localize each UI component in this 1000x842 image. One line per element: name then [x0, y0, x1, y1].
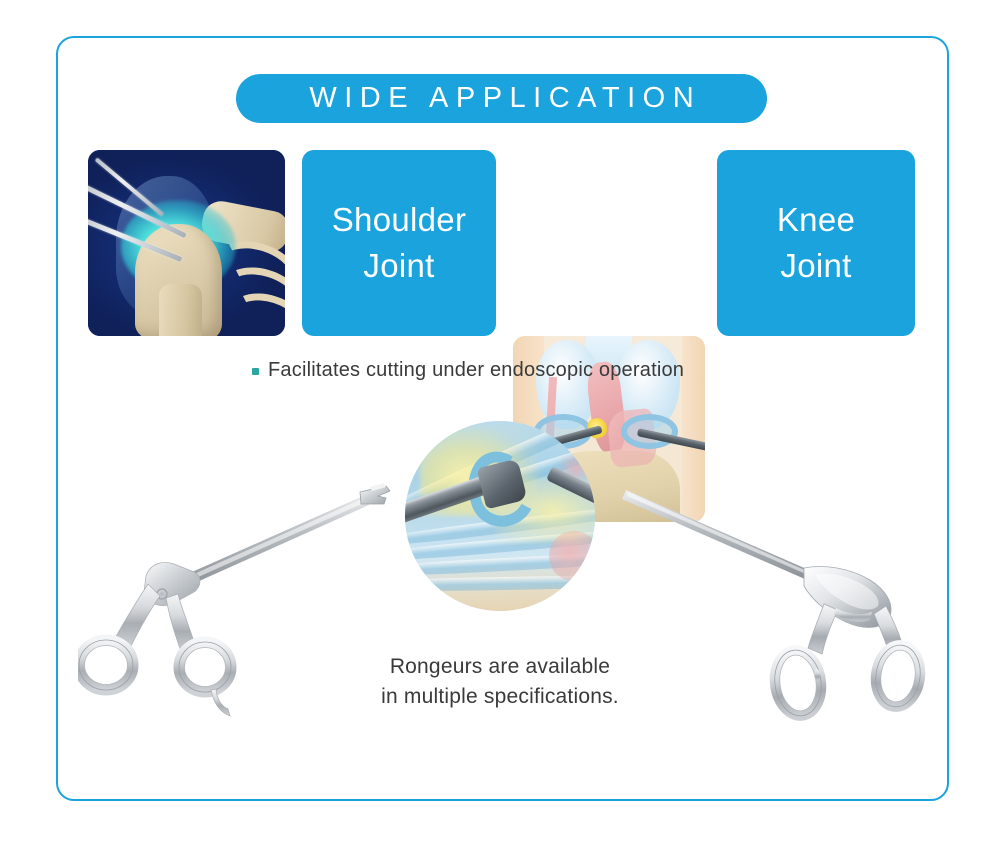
- shoulder-joint-label-card: Shoulder Joint: [302, 150, 496, 336]
- page-title: WIDE APPLICATION: [302, 82, 701, 115]
- instrument-caption: Rongeurs are available in multiple speci…: [0, 652, 1000, 712]
- shoulder-joint-illustration: [88, 150, 285, 336]
- knee-joint-label-card: Knee Joint: [717, 150, 915, 336]
- product-feature-poster: WIDE APPLICATION Shoulder Joint: [0, 0, 1000, 842]
- knee-joint-label-line-1: Knee: [777, 197, 855, 243]
- endoscopic-circle-photo: [405, 421, 595, 611]
- endoscopic-view-illustration: [405, 421, 595, 611]
- knee-joint-label-line-2: Joint: [780, 243, 851, 289]
- feature-bullet-text: Facilitates cutting under endoscopic ope…: [268, 359, 684, 382]
- bullet-dot-icon: [252, 368, 259, 375]
- feature-bullet-row: Facilitates cutting under endoscopic ope…: [252, 359, 684, 382]
- shoulder-joint-photo: [88, 150, 285, 336]
- caption-line-1: Rongeurs are available: [0, 652, 1000, 682]
- humerus-shaft-shape: [159, 284, 202, 336]
- wide-application-title-banner: WIDE APPLICATION: [236, 74, 767, 123]
- shoulder-joint-label-line-1: Shoulder: [332, 197, 467, 243]
- caption-line-2: in multiple specifications.: [0, 682, 1000, 712]
- shoulder-joint-label-line-2: Joint: [363, 243, 434, 289]
